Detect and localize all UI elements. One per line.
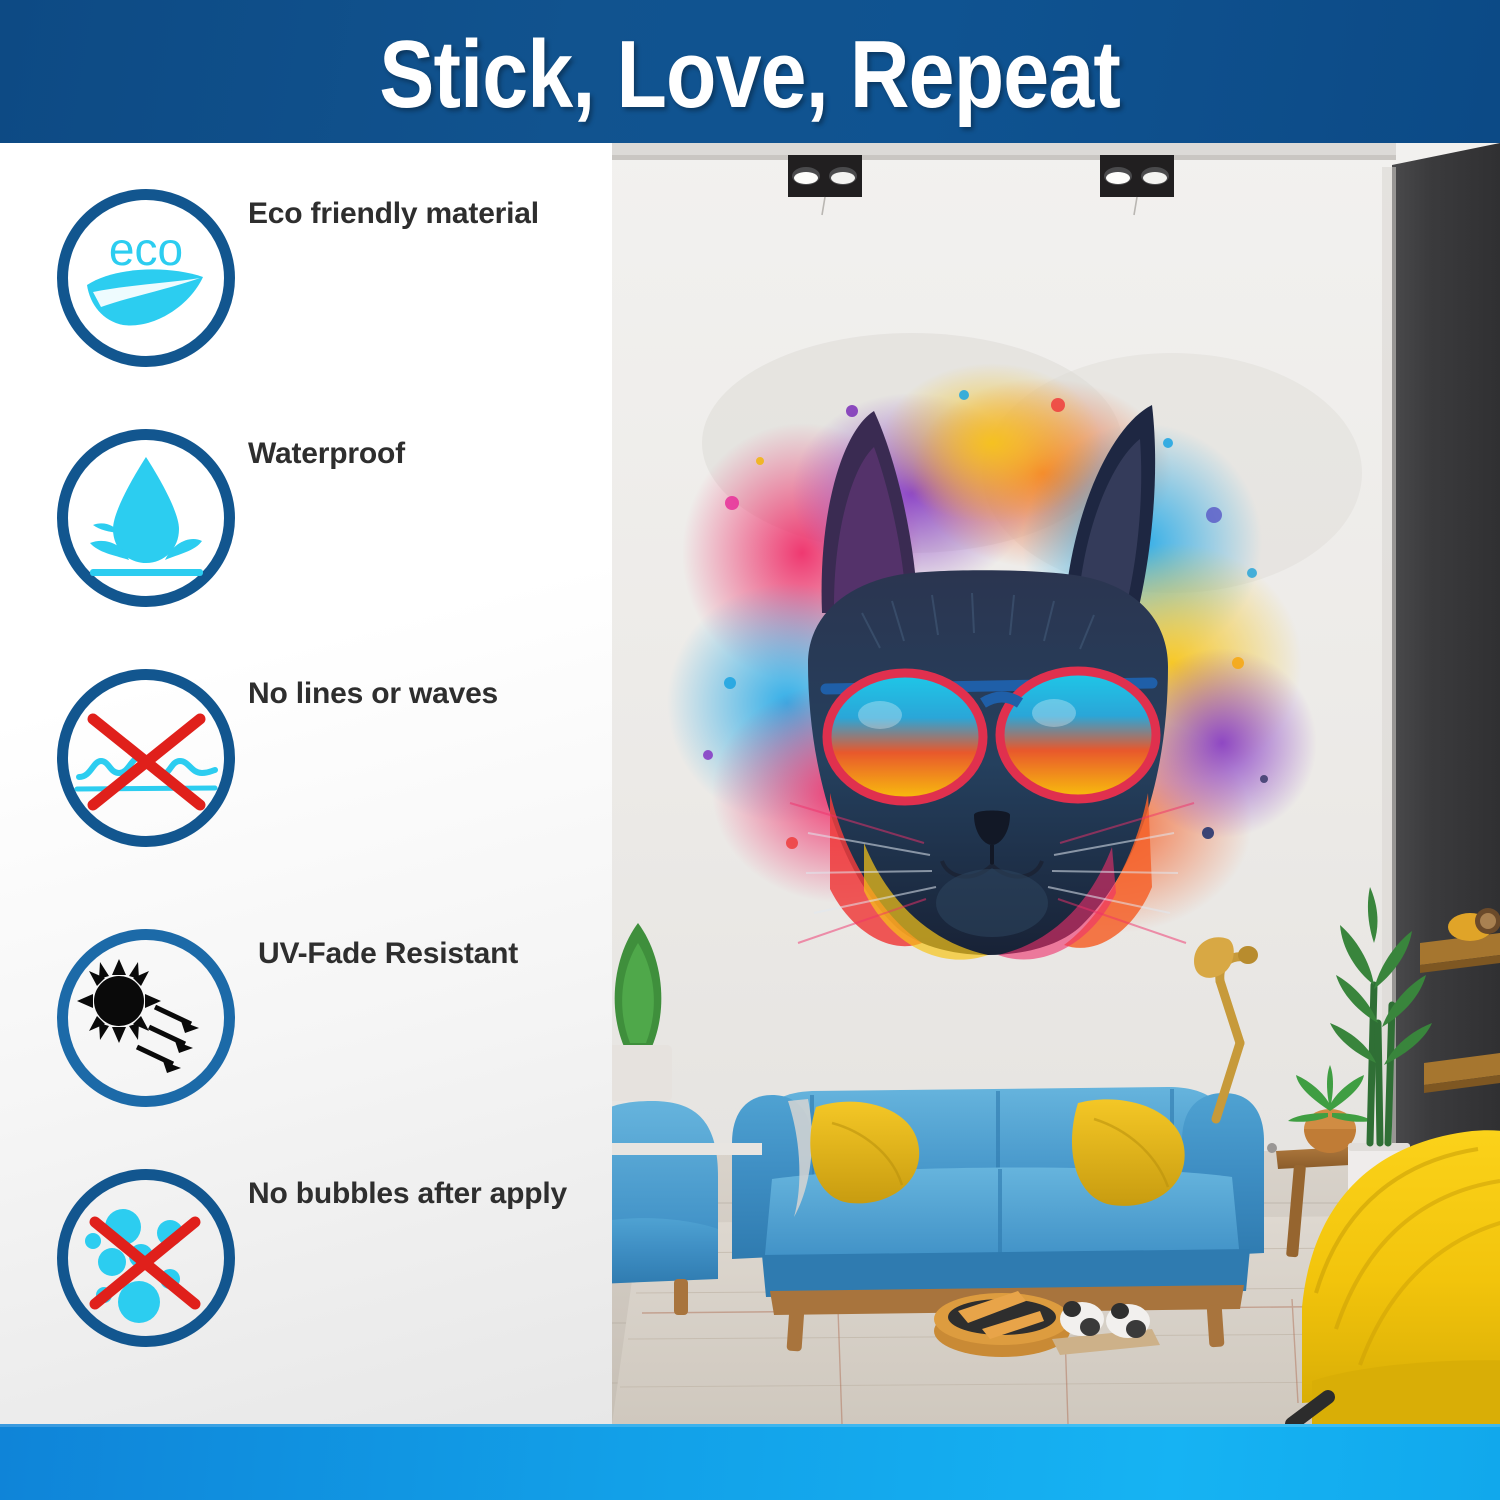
feature-label-waterproof: Waterproof bbox=[248, 437, 405, 471]
room-scene-illustration bbox=[612, 143, 1500, 1424]
feature-label-uv-resistant: UV-Fade Resistant bbox=[258, 937, 518, 971]
footer-bar-edge bbox=[0, 1424, 1500, 1427]
floor-tray-with-decor bbox=[934, 1291, 1070, 1357]
sun-uv-rays-icon-glyph bbox=[57, 929, 235, 1107]
feature-item-no-lines: No lines or waves bbox=[0, 659, 612, 859]
header-banner: Stick, Love, Repeat bbox=[0, 0, 1500, 143]
feature-item-eco: eco Eco friendly material bbox=[0, 179, 612, 379]
svg-text:eco: eco bbox=[109, 223, 183, 275]
no-bubbles-icon-glyph bbox=[57, 1169, 235, 1347]
feature-label-no-bubbles: No bubbles after apply bbox=[248, 1177, 567, 1211]
page-title: Stick, Love, Repeat bbox=[380, 27, 1121, 123]
no-waves-icon-glyph bbox=[57, 669, 235, 847]
no-bubbles-icon bbox=[57, 1169, 235, 1347]
infographic-page: Stick, Love, Repeat eco Eco friendly mat… bbox=[0, 0, 1500, 1500]
feature-label-no-lines: No lines or waves bbox=[248, 677, 498, 711]
eco-leaf-icon-glyph: eco bbox=[57, 189, 235, 367]
feature-item-uv-resistant: UV-Fade Resistant bbox=[0, 919, 612, 1119]
water-droplet-icon bbox=[57, 429, 235, 607]
no-waves-icon bbox=[57, 669, 235, 847]
feature-label-eco: Eco friendly material bbox=[248, 197, 539, 231]
room-photo bbox=[612, 143, 1500, 1424]
feature-item-waterproof: Waterproof bbox=[0, 419, 612, 619]
feature-item-no-bubbles: No bubbles after apply bbox=[0, 1159, 612, 1359]
sun-uv-rays-icon bbox=[57, 929, 235, 1107]
wall-art-splash-cat bbox=[667, 363, 1317, 960]
eco-leaf-icon: eco bbox=[57, 189, 235, 367]
water-droplet-icon-glyph bbox=[57, 429, 235, 607]
footer-bar bbox=[0, 1424, 1500, 1500]
features-panel: eco Eco friendly material Waterproof bbox=[0, 143, 612, 1424]
